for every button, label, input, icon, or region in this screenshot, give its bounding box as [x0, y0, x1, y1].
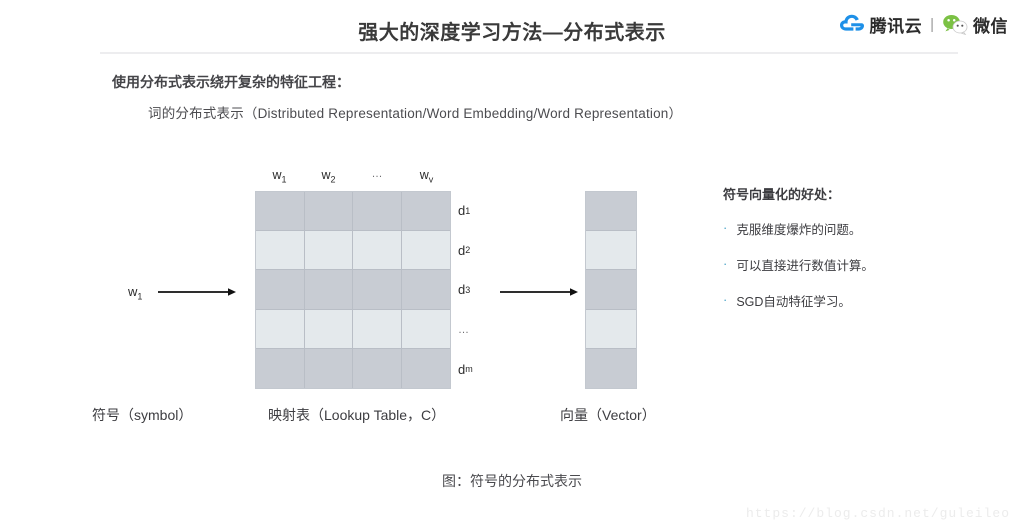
matrix-row-label: … — [458, 310, 492, 350]
matrix-cell — [402, 310, 451, 349]
matrix-cell — [256, 270, 305, 309]
vector-cell — [586, 349, 636, 388]
matrix-row-labels: d1 d2 d3 … dm — [458, 191, 492, 389]
caption-vector: 向量（Vector） — [560, 405, 656, 425]
matrix-row-label: d3 — [458, 270, 492, 310]
list-item: · SGD自动特征学习。 — [723, 291, 983, 310]
matrix-cell — [305, 192, 354, 231]
matrix-cell — [353, 349, 402, 388]
matrix-column-labels: w1 w2 … wv — [255, 168, 451, 186]
vector-cell — [586, 192, 636, 231]
matrix-row-label: d2 — [458, 231, 492, 271]
matrix-cell — [402, 349, 451, 388]
benefit-text: SGD自动特征学习。 — [736, 291, 851, 310]
matrix-cell — [256, 310, 305, 349]
matrix-cell — [256, 231, 305, 270]
matrix-cell — [305, 270, 354, 309]
matrix-cell — [305, 231, 354, 270]
input-symbol-label: w1 — [128, 284, 142, 302]
bullet-icon: · — [723, 291, 727, 306]
matrix-cell — [353, 310, 402, 349]
matrix-cell — [402, 231, 451, 270]
lookup-table-matrix — [255, 191, 451, 389]
vector-cell — [586, 310, 636, 349]
matrix-col-label: w1 — [255, 168, 304, 186]
matrix-cell — [305, 310, 354, 349]
watermark: https://blog.csdn.net/guleileo — [746, 506, 1010, 521]
arrow-right-icon — [500, 285, 578, 297]
caption-symbol: 符号（symbol） — [92, 405, 192, 425]
benefit-text: 可以直接进行数值计算。 — [736, 255, 874, 274]
matrix-cell — [353, 231, 402, 270]
output-vector — [585, 191, 637, 389]
matrix-cell — [402, 192, 451, 231]
list-item: · 克服维度爆炸的问题。 — [723, 219, 983, 238]
figure-caption: 图：符号的分布式表示 — [0, 471, 1024, 491]
list-item: · 可以直接进行数值计算。 — [723, 255, 983, 274]
bullet-icon: · — [723, 219, 727, 234]
arrow-right-icon — [158, 285, 236, 297]
bullet-icon: · — [723, 255, 727, 270]
benefit-text: 克服维度爆炸的问题。 — [736, 219, 861, 238]
vector-cell — [586, 270, 636, 309]
matrix-cell — [402, 270, 451, 309]
matrix-cell — [256, 192, 305, 231]
matrix-cell — [353, 270, 402, 309]
benefits-panel: 符号向量化的好处： · 克服维度爆炸的问题。 · 可以直接进行数值计算。 · S… — [723, 184, 983, 327]
matrix-row-label: d1 — [458, 191, 492, 231]
matrix-col-label: … — [353, 168, 402, 186]
slide: 强大的深度学习方法—分布式表示 腾讯云 | 微信 使用分布式表示绕 — [0, 0, 1024, 527]
matrix-cell — [256, 349, 305, 388]
matrix-cell — [353, 192, 402, 231]
matrix-cell — [305, 349, 354, 388]
caption-lookup-table: 映射表（Lookup Table，C） — [268, 405, 445, 425]
matrix-col-label: w2 — [304, 168, 353, 186]
matrix-col-label: wv — [402, 168, 451, 186]
matrix-row-label: dm — [458, 349, 492, 389]
vector-cell — [586, 231, 636, 270]
benefits-title: 符号向量化的好处： — [723, 184, 983, 203]
